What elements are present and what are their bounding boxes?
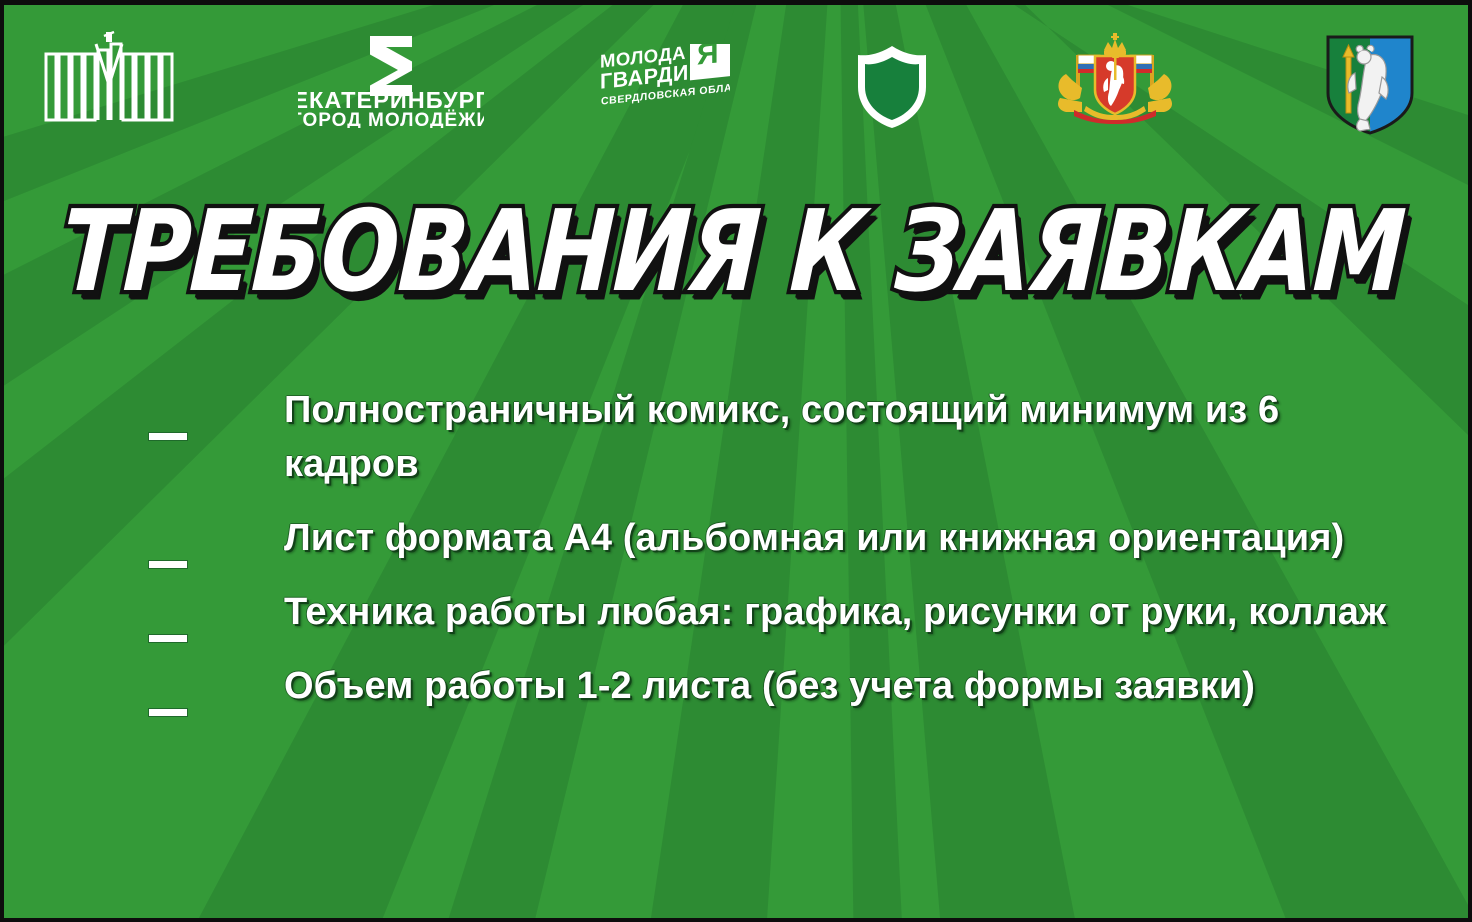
molodaya-gvardiya-mark: Я [690,44,730,80]
requirement-item: Полностраничный комикс, состоящий миниму… [0,384,1472,492]
requirement-text: Лист формата А4 (альбомная или книжная о… [284,512,1344,566]
dash-marker-icon [148,708,188,717]
coat-of-arms-icon [1052,28,1178,124]
ministry-of-culture-m-mark [44,30,174,122]
requirement-item: Лист формата А4 (альбомная или книжная о… [0,512,1472,566]
bear-shield-icon [1322,31,1418,137]
logo-bar: ЕКАТЕРИНБУРГ ГОРОД МОЛОДЁЖИ Я МОЛОДА ГВА… [0,0,1472,150]
dash-marker-icon [148,432,188,441]
dash-marker-icon [148,634,188,643]
requirement-text: Техника работы любая: графика, рисунки о… [284,586,1386,640]
requirements-list: Полностраничный комикс, состоящий миниму… [0,384,1472,734]
mg-accent-letter: Я [697,44,719,72]
molodaya-gvardiya-logo: Я МОЛОДА ГВАРДИ СВЕРДЛОВСКАЯ ОБЛАСТЬ [598,44,730,114]
requirement-text: Полностраничный комикс, состоящий миниму… [284,384,1404,492]
requirement-text: Объем работы 1-2 листа (без учета формы … [284,660,1255,714]
requirement-item: Техника работы любая: графика, рисунки о… [0,586,1472,640]
shield-icon [854,43,930,131]
shield-logo [854,43,930,131]
slide-root: ЕКАТЕРИНБУРГ ГОРОД МОЛОДЁЖИ Я МОЛОДА ГВА… [0,0,1472,922]
requirement-item: Объем работы 1-2 листа (без учета формы … [0,660,1472,714]
ekaterinburg-coat-of-arms [1322,31,1418,137]
ekaterinburg-logo: ЕКАТЕРИНБУРГ ГОРОД МОЛОДЁЖИ [298,32,484,128]
sverdlovsk-oblast-coat-of-arms [1052,28,1178,124]
dash-marker-icon [148,560,188,569]
ekaterinburg-line2: ГОРОД МОЛОДЁЖИ [298,110,484,128]
ministry-of-culture-logo [44,30,174,122]
